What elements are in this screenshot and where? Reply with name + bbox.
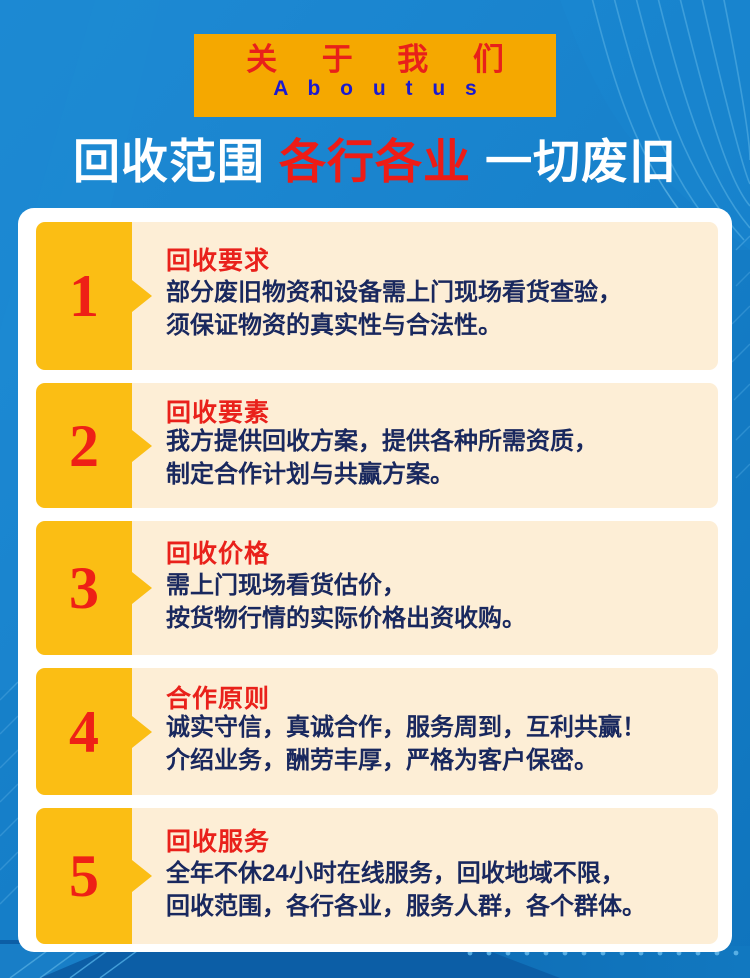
card-text-line: 制定合作计划与共赢方案。 [166, 458, 706, 491]
card-title: 回收价格 [166, 539, 706, 569]
card-number: 1 [69, 266, 99, 326]
card-body: 回收价格 需上门现场看货估价， 按货物行情的实际价格出资收购。 [132, 521, 718, 655]
about-us-banner: 关 于 我 们 A b o u t u s [194, 34, 556, 117]
card-title: 回收要求 [166, 246, 706, 276]
card-body: 回收要求 部分废旧物资和设备需上门现场看货查验， 须保证物资的真实性与合法性。 [132, 222, 718, 370]
card-body: 回收要素 我方提供回收方案，提供各种所需资质， 制定合作计划与共赢方案。 [132, 383, 718, 508]
card-text-line: 需上门现场看货估价， [166, 569, 706, 602]
page-title-part-1: 回收范围 [73, 135, 265, 188]
card-title: 回收要素 [166, 398, 706, 428]
list-item: 5 回收服务 全年不休24小时在线服务，回收地域不限， 回收范围，各行各业，服务… [36, 808, 718, 944]
card-number-box: 3 [36, 521, 132, 655]
card-number-box: 5 [36, 808, 132, 944]
card-text-line: 回收范围，各行各业，服务人群，各个群体。 [166, 890, 706, 923]
arrow-right-icon [132, 572, 152, 604]
card-text-line: 按货物行情的实际价格出资收购。 [166, 602, 706, 635]
card-text-line: 我方提供回收方案，提供各种所需资质， [166, 425, 706, 458]
card-number: 4 [69, 702, 99, 762]
about-title-en: A b o u t u s [266, 76, 483, 102]
card-body: 合作原则 诚实守信，真诚合作，服务周到，互利共赢！ 介绍业务，酬劳丰厚，严格为客… [132, 668, 718, 795]
arrow-right-icon [132, 716, 152, 748]
card-number-box: 4 [36, 668, 132, 795]
card-list: 1 回收要求 部分废旧物资和设备需上门现场看货查验， 须保证物资的真实性与合法性… [36, 222, 718, 944]
list-item: 2 回收要素 我方提供回收方案，提供各种所需资质， 制定合作计划与共赢方案。 [36, 383, 718, 508]
page-title-part-3: 一切废旧 [485, 135, 677, 188]
page-header: 关 于 我 们 A b o u t u s 回收范围 各行各业 一切废旧 [0, 0, 750, 190]
card-text-line: 全年不休24小时在线服务，回收地域不限， [166, 857, 706, 890]
card-number-box: 2 [36, 383, 132, 508]
card-text-line: 介绍业务，酬劳丰厚，严格为客户保密。 [166, 744, 706, 777]
arrow-right-icon [132, 280, 152, 312]
list-item: 1 回收要求 部分废旧物资和设备需上门现场看货查验， 须保证物资的真实性与合法性… [36, 222, 718, 370]
card-text-line: 部分废旧物资和设备需上门现场看货查验， [166, 276, 706, 309]
arrow-right-icon [132, 430, 152, 462]
card-number: 3 [69, 558, 99, 618]
page-title: 回收范围 各行各业 一切废旧 [0, 134, 750, 190]
card-text-line: 须保证物资的真实性与合法性。 [166, 309, 706, 342]
list-item: 4 合作原则 诚实守信，真诚合作，服务周到，互利共赢！ 介绍业务，酬劳丰厚，严格… [36, 668, 718, 795]
card-number: 5 [69, 846, 99, 906]
card-body: 回收服务 全年不休24小时在线服务，回收地域不限， 回收范围，各行各业，服务人群… [132, 808, 718, 944]
list-item: 3 回收价格 需上门现场看货估价， 按货物行情的实际价格出资收购。 [36, 521, 718, 655]
card-number: 2 [69, 416, 99, 476]
content-panel: 1 回收要求 部分废旧物资和设备需上门现场看货查验， 须保证物资的真实性与合法性… [18, 208, 732, 952]
card-title: 回收服务 [166, 827, 706, 857]
page-title-part-2: 各行各业 [279, 135, 471, 188]
card-text-line: 诚实守信，真诚合作，服务周到，互利共赢！ [166, 711, 706, 744]
arrow-right-icon [132, 860, 152, 892]
card-title: 合作原则 [166, 684, 706, 714]
card-number-box: 1 [36, 222, 132, 370]
